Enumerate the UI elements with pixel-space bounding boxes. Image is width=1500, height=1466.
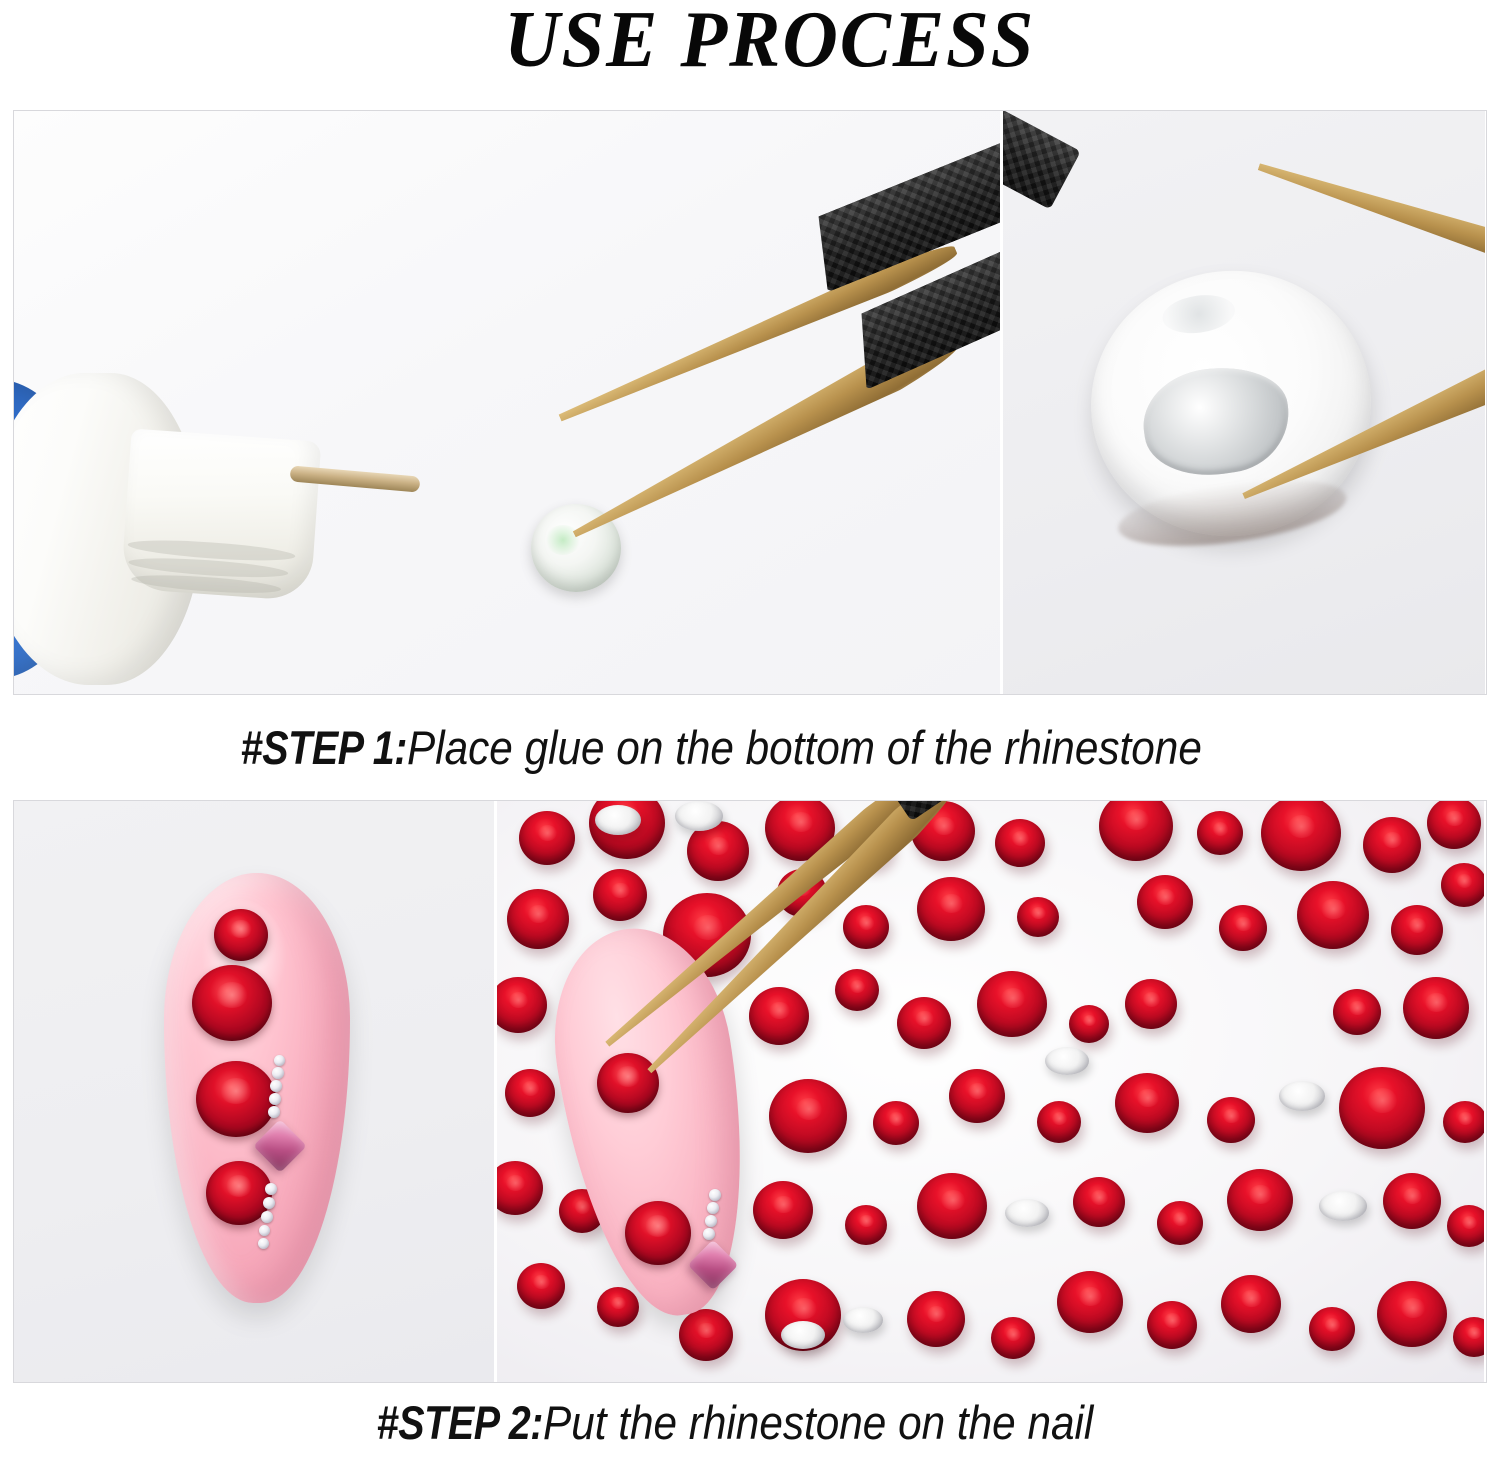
red-rhinestone (1221, 1275, 1281, 1333)
red-rhinestone (494, 977, 547, 1033)
glue-bottle (14, 379, 324, 679)
red-rhinestone (519, 811, 575, 865)
red-rhinestone (977, 971, 1047, 1037)
red-rhinestone (192, 965, 272, 1041)
silver-bead (269, 1093, 281, 1105)
red-rhinestone (835, 969, 879, 1011)
red-rhinestone (1309, 1307, 1355, 1351)
red-rhinestone (1261, 801, 1341, 871)
red-rhinestone (1441, 863, 1484, 907)
silver-bead (261, 1211, 273, 1223)
rhinestone-flat-back (675, 801, 723, 831)
rhinestone-field (497, 801, 1484, 1382)
red-rhinestone (1115, 1073, 1179, 1133)
red-rhinestone (1219, 905, 1267, 951)
red-rhinestone (1207, 1097, 1255, 1143)
pink-nail (164, 873, 350, 1303)
silver-bead (272, 1067, 284, 1079)
step-1-label: #STEP 1: (241, 695, 407, 800)
silver-bead (709, 1189, 721, 1201)
rhinestone-flat-back (1045, 1047, 1089, 1075)
red-rhinestone (843, 905, 889, 949)
rhinestone-flat-back (595, 805, 641, 835)
red-rhinestone (1377, 1281, 1447, 1347)
red-rhinestone (593, 869, 647, 921)
silver-bead (263, 1197, 275, 1209)
red-rhinestone (1157, 1201, 1203, 1245)
panel-decorated-nail (14, 801, 494, 1382)
step-2-caption: #STEP 2: Put the rhinestone on the nail (0, 1383, 1500, 1449)
red-rhinestone-on-nail (597, 1053, 659, 1113)
red-rhinestone (679, 1309, 733, 1361)
red-rhinestone (907, 1291, 965, 1347)
red-rhinestone (1297, 881, 1369, 949)
panel-rhinestone-field (494, 801, 1484, 1382)
red-rhinestone (1037, 1101, 1081, 1143)
red-rhinestone (1427, 801, 1481, 849)
red-rhinestone (507, 889, 569, 949)
red-rhinestone (917, 1173, 987, 1239)
rhinestone-flat-back (1279, 1081, 1325, 1111)
panel-rhinestone-with-glue (1000, 111, 1485, 694)
rhinestone-flat-back (781, 1321, 825, 1349)
red-rhinestone (1197, 811, 1243, 855)
silver-bead (258, 1238, 269, 1249)
step-1-block: #STEP 1: Place glue on the bottom of the… (0, 110, 1500, 800)
step-2-label: #STEP 2: (377, 1383, 543, 1463)
rhinestone-rim (1115, 468, 1350, 558)
step-2-image-row (13, 800, 1487, 1383)
red-rhinestone (1057, 1271, 1123, 1333)
red-rhinestone (1099, 801, 1173, 861)
red-rhinestone (1147, 1301, 1197, 1349)
rhinestone-flat-back (1074, 253, 1388, 554)
red-rhinestone (1453, 1317, 1484, 1357)
red-rhinestone (1227, 1169, 1293, 1231)
red-rhinestone (1069, 1005, 1109, 1043)
rhinestone-flat-back (1319, 1191, 1367, 1221)
red-rhinestone (749, 987, 809, 1045)
red-rhinestone (769, 1079, 847, 1153)
silver-bead (703, 1228, 715, 1240)
red-rhinestone (494, 1161, 543, 1215)
glue-bottle-neck (121, 429, 322, 602)
red-rhinestone (897, 997, 951, 1049)
tweezer-grip (1000, 111, 1081, 210)
red-rhinestone (753, 1181, 813, 1239)
silver-bead (707, 1202, 719, 1214)
step-1-caption: #STEP 1: Place glue on the bottom of the… (0, 695, 1500, 800)
red-rhinestone-on-nail (625, 1201, 691, 1265)
red-rhinestone (1391, 905, 1443, 955)
silver-bead (268, 1106, 280, 1118)
red-rhinestone (917, 877, 985, 941)
rhinestone-flat-back (1005, 1199, 1049, 1227)
silver-bead (705, 1215, 717, 1227)
red-rhinestone (1073, 1177, 1125, 1227)
red-rhinestone (1137, 875, 1193, 929)
red-rhinestone (995, 819, 1045, 867)
silver-bead (259, 1225, 270, 1236)
red-rhinestone (1363, 817, 1421, 873)
red-rhinestone (1443, 1101, 1484, 1143)
red-rhinestone (991, 1317, 1035, 1359)
red-rhinestone (845, 1205, 887, 1245)
red-rhinestone (1017, 897, 1059, 937)
silver-bead (265, 1183, 277, 1195)
silver-bead (274, 1055, 285, 1066)
red-rhinestone (196, 1061, 276, 1137)
page-header: USE PROCESS (0, 0, 1500, 110)
page-title: USE PROCESS (504, 0, 1035, 80)
glue-blob-small (1160, 291, 1237, 338)
panel-glue-bottle-and-tweezers (14, 111, 1000, 694)
red-rhinestone (1333, 989, 1381, 1035)
tweezer-upper-arm (1254, 150, 1485, 294)
red-rhinestone (1339, 1067, 1425, 1149)
red-rhinestone (597, 1287, 639, 1327)
red-rhinestone (517, 1263, 565, 1309)
red-rhinestone (505, 1069, 555, 1117)
glue-blob (1137, 359, 1296, 484)
red-rhinestone (214, 909, 268, 961)
rhinestone-flat-back (843, 1307, 883, 1333)
red-rhinestone (1383, 1173, 1441, 1229)
red-rhinestone (1125, 979, 1177, 1029)
step-2-block: #STEP 2: Put the rhinestone on the nail (0, 800, 1500, 1449)
red-rhinestone (1447, 1205, 1484, 1247)
step-1-text: Place glue on the bottom of the rhinesto… (407, 695, 1202, 800)
red-rhinestone (873, 1101, 919, 1145)
step-1-image-row (13, 110, 1487, 695)
silver-bead (270, 1080, 282, 1092)
red-rhinestone (949, 1069, 1005, 1123)
red-rhinestone (1403, 977, 1469, 1039)
step-2-text: Put the rhinestone on the nail (543, 1383, 1093, 1463)
